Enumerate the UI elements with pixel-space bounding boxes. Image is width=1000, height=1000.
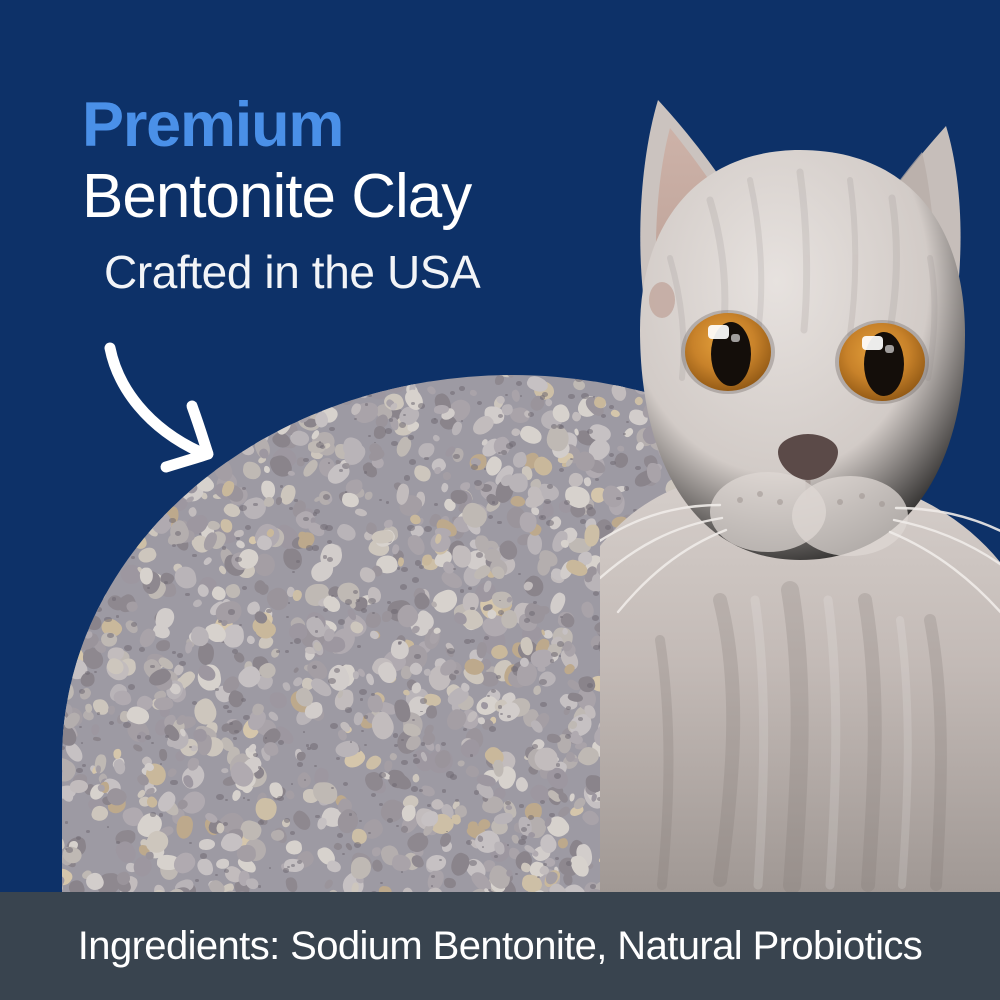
cat-photo xyxy=(600,0,1000,895)
headline-sub: Crafted in the USA xyxy=(104,248,642,296)
headline-accent: Premium xyxy=(82,95,642,157)
gray-cat-photo-icon xyxy=(600,0,1000,895)
ingredients-text: Ingredients: Sodium Bentonite, Natural P… xyxy=(78,924,922,969)
headline-main: Bentonite Clay xyxy=(82,165,642,228)
product-infographic: Premium Bentonite Clay Crafted in the US… xyxy=(0,0,1000,1000)
curved-down-right-arrow-icon xyxy=(96,336,296,486)
cat-eye-left xyxy=(681,310,775,394)
ingredients-banner: Ingredients: Sodium Bentonite, Natural P… xyxy=(0,892,1000,1000)
cat-eye-right xyxy=(835,320,929,404)
headline-block: Premium Bentonite Clay Crafted in the US… xyxy=(82,95,642,296)
